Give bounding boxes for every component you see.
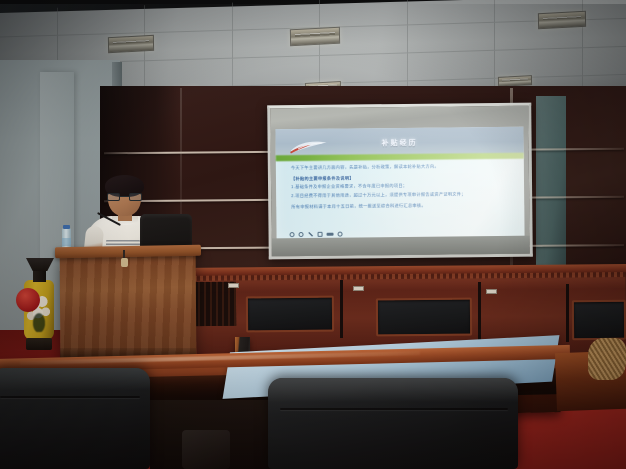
screen-bottom-strip bbox=[272, 236, 530, 256]
eyeglass-lens-left bbox=[107, 193, 120, 201]
bottle-label bbox=[62, 238, 71, 246]
screen-surface: 补贴经历 今天下午主要讲几方面内容，先是补贴，分析政策，解读本轮补贴大方向。 【… bbox=[270, 106, 530, 257]
red-pompom-ornament bbox=[16, 288, 40, 312]
vase-mouth bbox=[26, 258, 54, 271]
under-desk-object bbox=[182, 430, 230, 469]
conference-room-photo: 补贴经历 今天下午主要讲几方面内容，先是补贴，分析政策，解读本轮补贴大方向。 【… bbox=[0, 0, 626, 469]
eyeglass-bridge bbox=[120, 196, 129, 197]
desk-front-panel bbox=[572, 300, 626, 340]
eyeglass-lens-right bbox=[129, 193, 142, 201]
desk-front-panel bbox=[246, 296, 334, 333]
desk-seam bbox=[566, 284, 569, 342]
desk-nameplate bbox=[353, 286, 364, 291]
vase-base bbox=[26, 338, 52, 350]
eyeglasses-icon bbox=[107, 193, 142, 201]
desk-seam bbox=[478, 282, 481, 340]
podium-microphone[interactable] bbox=[121, 258, 128, 267]
podium-wood-grain bbox=[60, 256, 196, 360]
chair-seam bbox=[280, 408, 508, 410]
chair-seam bbox=[0, 396, 140, 398]
desk-nameplate bbox=[486, 289, 497, 294]
chair-headrest bbox=[0, 368, 150, 390]
desk-front-panel bbox=[376, 298, 472, 337]
projection-screen[interactable]: 补贴经历 今天下午主要讲几方面内容，先是补贴，分析政策，解读本轮补贴大方向。 【… bbox=[267, 103, 533, 260]
desk-nameplate bbox=[228, 283, 239, 288]
bottle-cap bbox=[63, 225, 70, 229]
projector-hotspot bbox=[270, 106, 530, 257]
rattan-object bbox=[588, 338, 626, 380]
decorative-floor-vase bbox=[22, 258, 56, 350]
chair-headrest bbox=[268, 378, 518, 402]
desk-seam bbox=[340, 280, 343, 338]
